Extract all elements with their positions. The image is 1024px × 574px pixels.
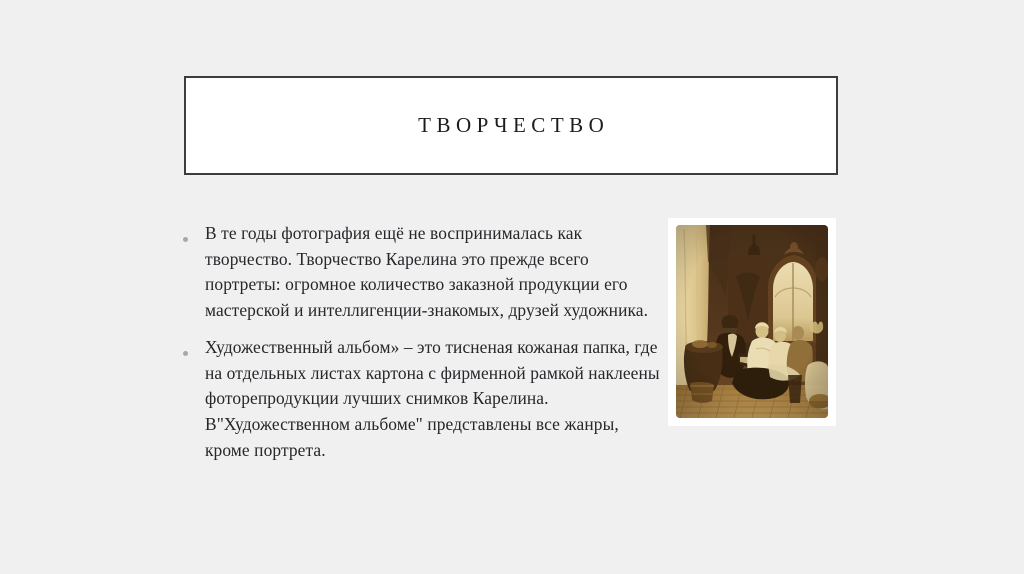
sepia-interior-photo [676,225,828,418]
bullet-marker [183,221,205,247]
slide-canvas: ТВОРЧЕСТВО В те годы фотография ещё не в… [0,0,1024,574]
page-title: ТВОРЧЕСТВО [413,115,610,136]
bullet-dot-icon [183,351,188,356]
list-item-text: В те годы фотография ещё не воспринимала… [205,221,663,323]
bullet-marker [183,335,205,361]
bullet-dot-icon [183,237,188,242]
photo-frame [668,218,836,426]
list-item: Художественный альбом» – это тисненая ко… [183,335,663,463]
list-item-text: Художественный альбом» – это тисненая ко… [205,335,663,463]
content-body: В те годы фотография ещё не воспринимала… [183,221,663,463]
list-item: В те годы фотография ещё не воспринимала… [183,221,663,323]
slide-title-box: ТВОРЧЕСТВО [184,76,838,175]
